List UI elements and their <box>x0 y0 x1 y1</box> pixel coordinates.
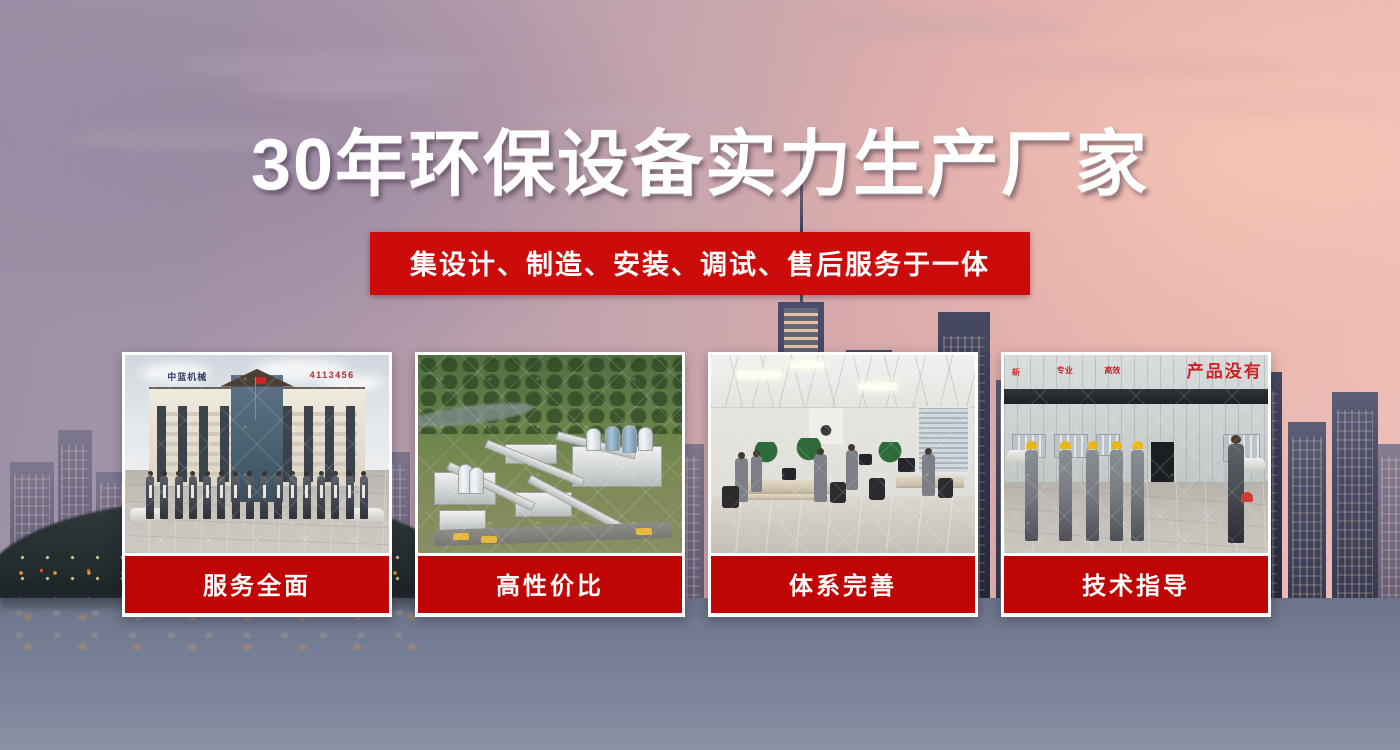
page-title: 30年环保设备实力生产厂家 <box>0 128 1400 204</box>
cloud-6 <box>520 108 750 124</box>
card-caption: 体系完善 <box>711 556 975 613</box>
building-phone-text: 4113456 <box>310 370 355 380</box>
card-photo-office-interior <box>711 355 975 553</box>
factory-slogan-main: 产品没有 <box>1187 357 1263 382</box>
cloud-4 <box>980 56 1300 78</box>
feature-card-list: 中蓝机械 4113456 服务全面 <box>122 352 1278 617</box>
card-photo-office-building: 中蓝机械 4113456 <box>125 355 389 553</box>
card-photo-workers-training: 产品没有 新 专业 高效 <box>1004 355 1268 553</box>
card-caption: 服务全面 <box>125 556 389 613</box>
cloud-2 <box>240 78 450 96</box>
card-caption: 技术指导 <box>1004 556 1268 613</box>
subtitle-banner: 集设计、制造、安装、调试、售后服务于一体 <box>0 232 1400 295</box>
subtitle-text: 集设计、制造、安装、调试、售后服务于一体 <box>370 232 1030 295</box>
cloud-3 <box>820 16 1080 36</box>
staff-row <box>146 476 368 520</box>
factory-slogan-2: 专业 <box>1057 365 1073 376</box>
card-photo-plant-aerial <box>418 355 682 553</box>
building-sign-text: 中蓝机械 <box>167 370 207 383</box>
card-caption: 高性价比 <box>418 556 682 613</box>
promo-banner: 30年环保设备实力生产厂家 集设计、制造、安装、调试、售后服务于一体 中蓝机械 … <box>0 0 1400 750</box>
cloud-5 <box>1130 96 1380 114</box>
feature-card[interactable]: 高性价比 <box>415 352 685 617</box>
feature-card[interactable]: 体系完善 <box>708 352 978 617</box>
feature-card[interactable]: 中蓝机械 4113456 服务全面 <box>122 352 392 617</box>
feature-card[interactable]: 产品没有 新 专业 高效 <box>1001 352 1271 617</box>
cloud-1 <box>180 52 480 78</box>
factory-slogan-3: 高效 <box>1104 365 1120 376</box>
factory-slogan-1: 新 <box>1012 367 1020 378</box>
